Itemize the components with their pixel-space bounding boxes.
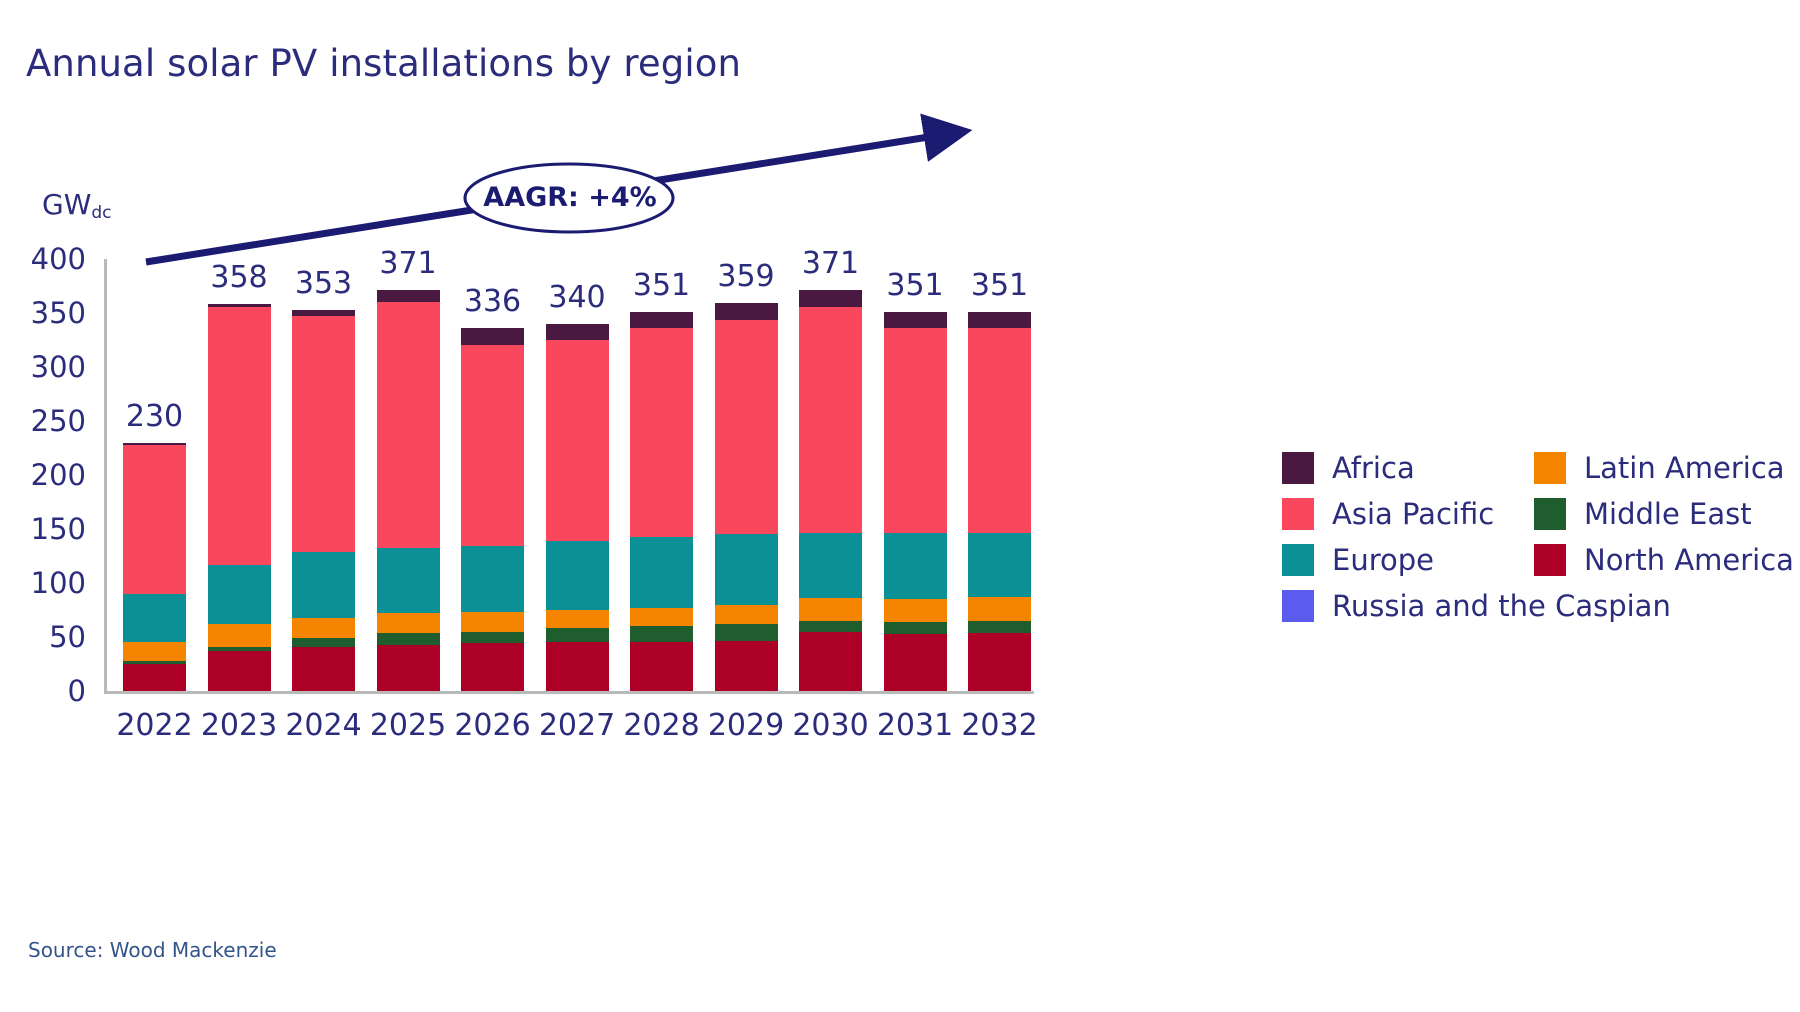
stacked-bar[interactable] — [292, 310, 355, 691]
bar-segment[interactable] — [377, 302, 440, 548]
stacked-bar[interactable] — [208, 304, 271, 691]
legend-item[interactable]: Middle East — [1534, 498, 1752, 530]
bar-segment[interactable] — [546, 324, 609, 340]
bar-segment[interactable] — [546, 642, 609, 691]
bar-total-label: 371 — [783, 246, 878, 281]
bar-segment[interactable] — [799, 290, 862, 306]
bar-segment[interactable] — [208, 651, 271, 691]
bar-segment[interactable] — [461, 345, 524, 546]
bar-segment[interactable] — [377, 645, 440, 691]
bar-segment[interactable] — [123, 445, 186, 594]
bar-segment[interactable] — [884, 328, 947, 533]
bar-segment[interactable] — [715, 303, 778, 319]
bar-segment[interactable] — [123, 664, 186, 691]
y-axis-unit-sub: dc — [91, 203, 111, 223]
bar-segment[interactable] — [377, 290, 440, 302]
bar-segment[interactable] — [799, 632, 862, 691]
y-axis-tick-label: 300 — [31, 350, 86, 384]
bar-total-label: 353 — [276, 266, 371, 301]
legend-item-label: Russia and the Caspian — [1332, 592, 1671, 621]
chart-canvas: Annual solar PV installations by region … — [0, 0, 1800, 1012]
bar-segment[interactable] — [884, 533, 947, 599]
bar-total-label: 340 — [530, 280, 625, 315]
bar-segment[interactable] — [968, 312, 1031, 328]
source-note: Source: Wood Mackenzie — [28, 938, 277, 962]
y-axis-tick-label: 400 — [31, 242, 86, 276]
stacked-bar[interactable] — [377, 290, 440, 691]
bar-total-label: 359 — [699, 259, 794, 294]
legend-swatch-icon — [1534, 498, 1566, 530]
y-axis-tick-label: 100 — [31, 566, 86, 600]
legend-swatch-icon — [1282, 452, 1314, 484]
bar-segment[interactable] — [292, 638, 355, 647]
bar-segment[interactable] — [461, 612, 524, 631]
bar-segment[interactable] — [461, 328, 524, 345]
stacked-bar[interactable] — [630, 312, 693, 691]
bar-segment[interactable] — [377, 633, 440, 645]
bar-segment[interactable] — [968, 328, 1031, 533]
legend-item-label: Europe — [1332, 546, 1434, 575]
bar-segment[interactable] — [884, 599, 947, 622]
bar-segment[interactable] — [968, 633, 1031, 691]
bar-segment[interactable] — [630, 626, 693, 642]
y-axis-unit-main: GW — [42, 188, 91, 221]
bar-segment[interactable] — [799, 533, 862, 598]
y-axis-ticks: 400350300250200150100500 — [0, 259, 104, 691]
legend-item-label: Africa — [1332, 454, 1415, 483]
y-axis-tick-label: 250 — [31, 404, 86, 438]
bar-segment[interactable] — [884, 312, 947, 328]
page-title: Annual solar PV installations by region — [26, 42, 741, 85]
bar-segment[interactable] — [630, 537, 693, 608]
y-axis-tick-label: 350 — [31, 296, 86, 330]
bar-total-label: 351 — [614, 268, 709, 303]
x-axis-tick-label: 2032 — [945, 708, 1055, 743]
legend-swatch-icon — [1534, 452, 1566, 484]
bar-segment[interactable] — [292, 316, 355, 551]
bar-segment[interactable] — [292, 647, 355, 691]
stacked-bar[interactable] — [799, 290, 862, 691]
bar-segment[interactable] — [377, 548, 440, 613]
bar-segment[interactable] — [715, 624, 778, 641]
y-axis-unit-label: GWdc — [42, 188, 112, 221]
legend-swatch-icon — [1534, 544, 1566, 576]
bar-segment[interactable] — [546, 541, 609, 610]
bar-segment[interactable] — [461, 546, 524, 612]
legend-item[interactable]: Africa — [1282, 452, 1415, 484]
bar-segment[interactable] — [630, 642, 693, 691]
y-axis-tick-label: 150 — [31, 512, 86, 546]
bar-segment[interactable] — [968, 621, 1031, 633]
bar-segment[interactable] — [546, 610, 609, 628]
legend-item[interactable]: Asia Pacific — [1282, 498, 1494, 530]
legend-swatch-icon — [1282, 590, 1314, 622]
stacked-bar[interactable] — [461, 328, 524, 691]
bar-segment[interactable] — [461, 632, 524, 644]
bar-total-label: 351 — [868, 268, 963, 303]
legend-item-label: Middle East — [1584, 500, 1752, 529]
bar-segment[interactable] — [292, 552, 355, 618]
legend-item[interactable]: Latin America — [1534, 452, 1785, 484]
plot-area: 400350300250200150100500 230358353371336… — [104, 259, 1179, 691]
bar-segment[interactable] — [715, 534, 778, 604]
bar-total-label: 351 — [952, 268, 1047, 303]
bar-segment[interactable] — [715, 641, 778, 691]
stacked-bar[interactable] — [968, 312, 1031, 691]
bar-segment[interactable] — [546, 340, 609, 541]
legend-item[interactable]: Europe — [1282, 544, 1434, 576]
bar-segment[interactable] — [799, 307, 862, 534]
bar-segment[interactable] — [968, 533, 1031, 597]
bar-segment[interactable] — [208, 624, 271, 647]
bar-segment[interactable] — [630, 328, 693, 536]
bar-segment[interactable] — [377, 613, 440, 632]
aagr-label: AAGR: +4% — [470, 182, 670, 213]
bar-segment[interactable] — [208, 307, 271, 565]
bar-segment[interactable] — [884, 634, 947, 691]
legend-swatch-icon — [1282, 498, 1314, 530]
legend-item-label: North America — [1584, 546, 1794, 575]
stacked-bar[interactable] — [123, 443, 186, 691]
bar-segment[interactable] — [968, 597, 1031, 621]
bar-segment[interactable] — [799, 621, 862, 632]
bar-total-label: 371 — [361, 246, 456, 281]
bar-segment[interactable] — [546, 628, 609, 642]
legend-swatch-icon — [1282, 544, 1314, 576]
bar-segment[interactable] — [208, 565, 271, 624]
bar-segment[interactable] — [461, 643, 524, 691]
bar-total-label: 358 — [192, 260, 287, 295]
y-axis-tick-label: 50 — [49, 620, 86, 654]
stacked-bar[interactable] — [715, 303, 778, 691]
legend-item[interactable]: North America — [1534, 544, 1794, 576]
bar-segment[interactable] — [630, 608, 693, 626]
bars-layer: 230358353371336340351359371351351 — [104, 259, 1179, 691]
stacked-bar[interactable] — [884, 312, 947, 691]
bar-segment[interactable] — [715, 605, 778, 624]
bar-segment[interactable] — [884, 622, 947, 634]
legend-item-label: Asia Pacific — [1332, 500, 1494, 529]
legend-item-label: Latin America — [1584, 454, 1785, 483]
bar-segment[interactable] — [715, 320, 778, 535]
bar-total-label: 230 — [107, 399, 202, 434]
x-axis-line — [104, 691, 1034, 694]
bar-segment[interactable] — [630, 312, 693, 328]
y-axis-tick-label: 0 — [68, 674, 86, 708]
legend-item[interactable]: Russia and the Caspian — [1282, 590, 1671, 622]
bar-segment[interactable] — [292, 618, 355, 639]
bar-total-label: 336 — [445, 284, 540, 319]
bar-segment[interactable] — [123, 594, 186, 643]
y-axis-tick-label: 200 — [31, 458, 86, 492]
bar-segment[interactable] — [799, 598, 862, 621]
bar-segment[interactable] — [123, 642, 186, 660]
stacked-bar[interactable] — [546, 324, 609, 691]
